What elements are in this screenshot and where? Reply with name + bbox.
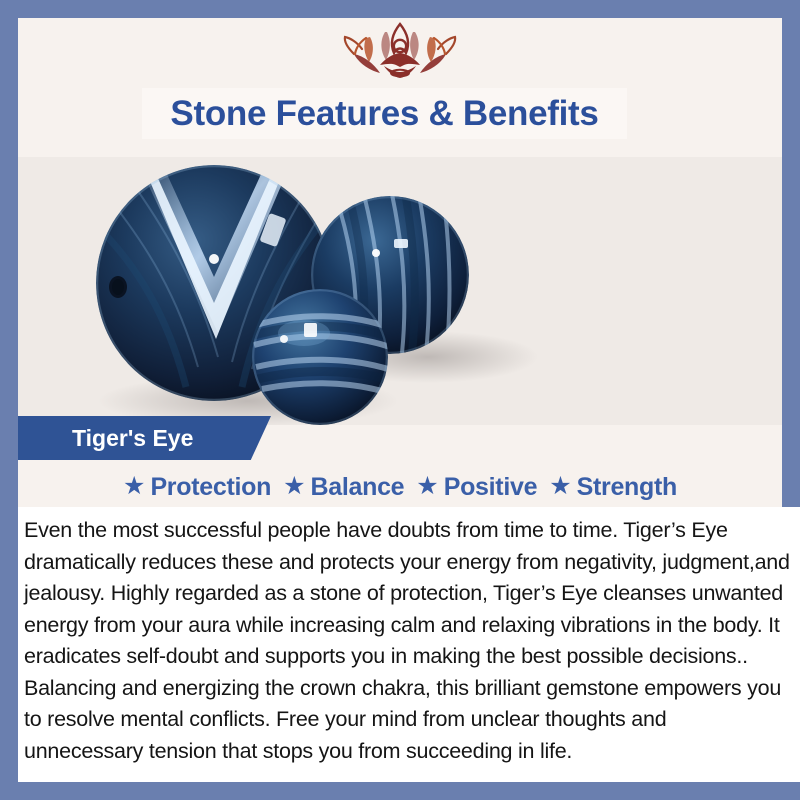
- star-icon: ★: [283, 474, 305, 499]
- benefit-label: Balance: [310, 473, 404, 502]
- star-icon: ★: [416, 474, 438, 499]
- benefit-item-strength: ★ Strength: [544, 473, 682, 502]
- title-banner: Stone Features & Benefits: [142, 88, 627, 139]
- description-panel: Even the most successful people have dou…: [18, 507, 800, 782]
- benefit-item-positive: ★ Positive: [411, 473, 542, 502]
- stone-name-ribbon: Tiger's Eye: [18, 416, 271, 460]
- lotus-meditation-icon: [330, 20, 470, 84]
- benefit-label: Strength: [577, 473, 677, 502]
- stone-name-label: Tiger's Eye: [72, 416, 193, 460]
- benefit-item-protection: ★ Protection: [118, 473, 276, 502]
- star-icon: ★: [549, 474, 571, 499]
- benefit-item-balance: ★ Balance: [278, 473, 409, 502]
- benefit-label: Positive: [444, 473, 537, 502]
- benefits-row: ★ Protection ★ Balance ★ Positive ★ Stre…: [18, 466, 782, 508]
- description-text: Even the most successful people have dou…: [24, 515, 790, 767]
- stone-photo-illustration: [18, 157, 782, 425]
- page-title: Stone Features & Benefits: [170, 94, 598, 134]
- star-icon: ★: [123, 474, 145, 499]
- benefit-label: Protection: [150, 473, 271, 502]
- hero-image: [18, 157, 782, 425]
